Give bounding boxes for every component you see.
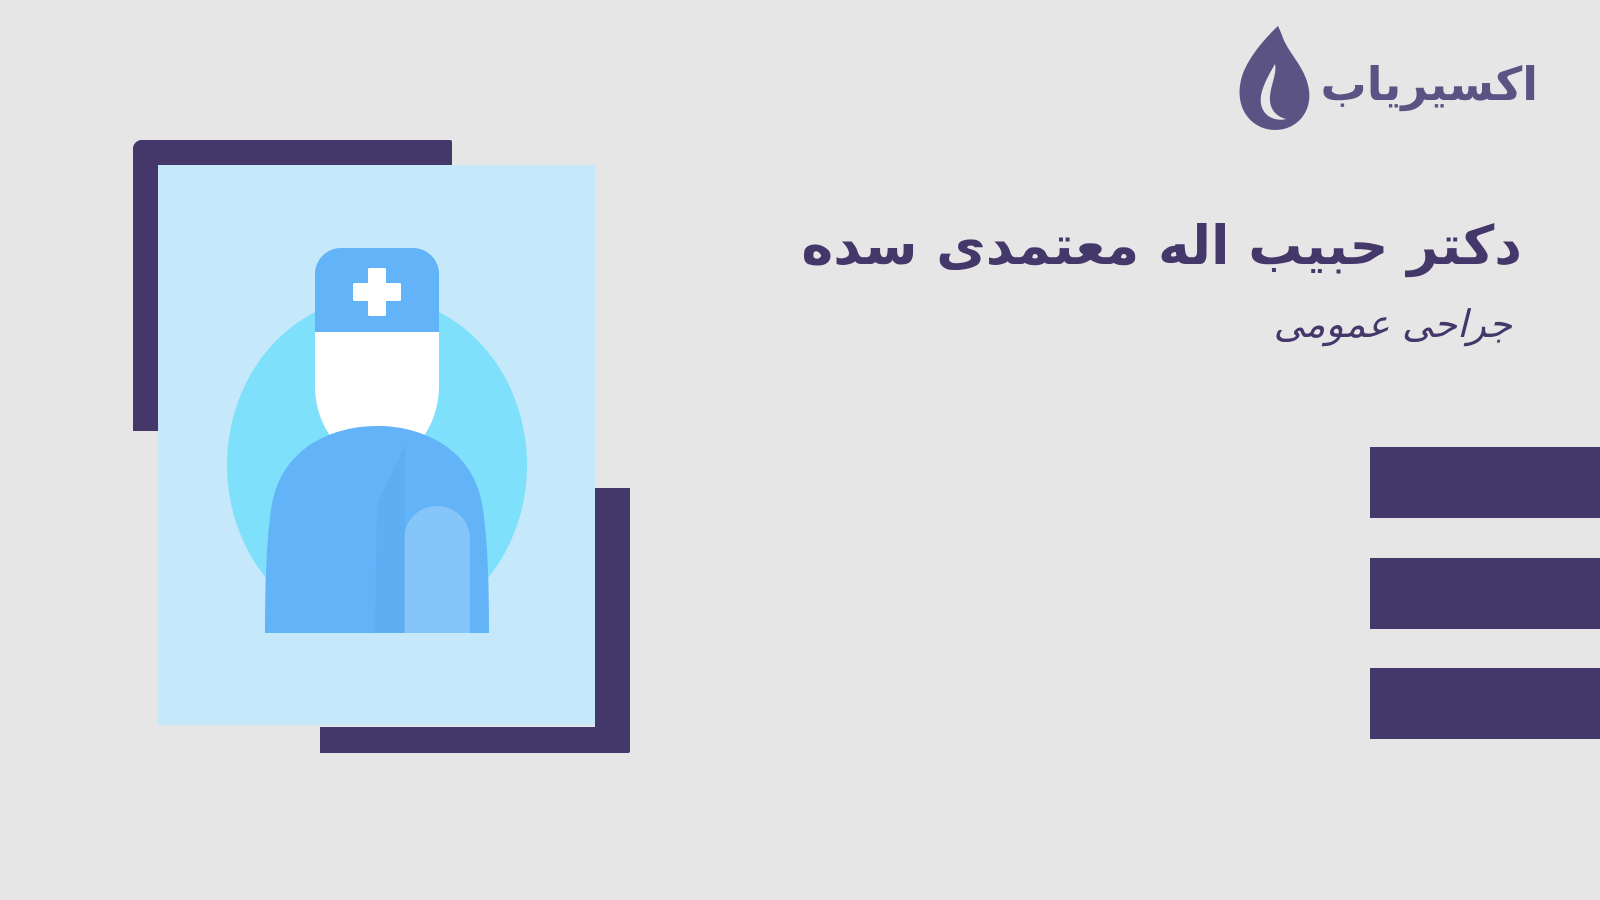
page-title: دکتر حبیب اله معتمدی سده: [801, 212, 1522, 280]
flame-icon: [1223, 24, 1315, 132]
doctor-specialty: جراحی عمومی: [801, 302, 1512, 348]
doctor-avatar-icon: [212, 230, 542, 660]
frame-accent-bottom: [320, 727, 630, 753]
brand-wordmark: اکسیریاب: [1321, 61, 1539, 107]
doctor-photo-card: [158, 165, 595, 725]
brand-logo[interactable]: اکسیریاب: [1223, 24, 1539, 132]
decorative-bar-3: [1370, 668, 1600, 739]
doctor-info: دکتر حبیب اله معتمدی سده جراحی عمومی: [801, 212, 1522, 347]
doctor-illustration: [133, 140, 633, 755]
decorative-bar-1: [1370, 447, 1600, 518]
frame-accent-right: [595, 488, 630, 753]
frame-accent-left: [133, 140, 159, 431]
frame-accent-top: [133, 140, 452, 166]
decorative-bar-2: [1370, 558, 1600, 629]
banner-canvas: اکسیریاب: [0, 0, 1600, 900]
